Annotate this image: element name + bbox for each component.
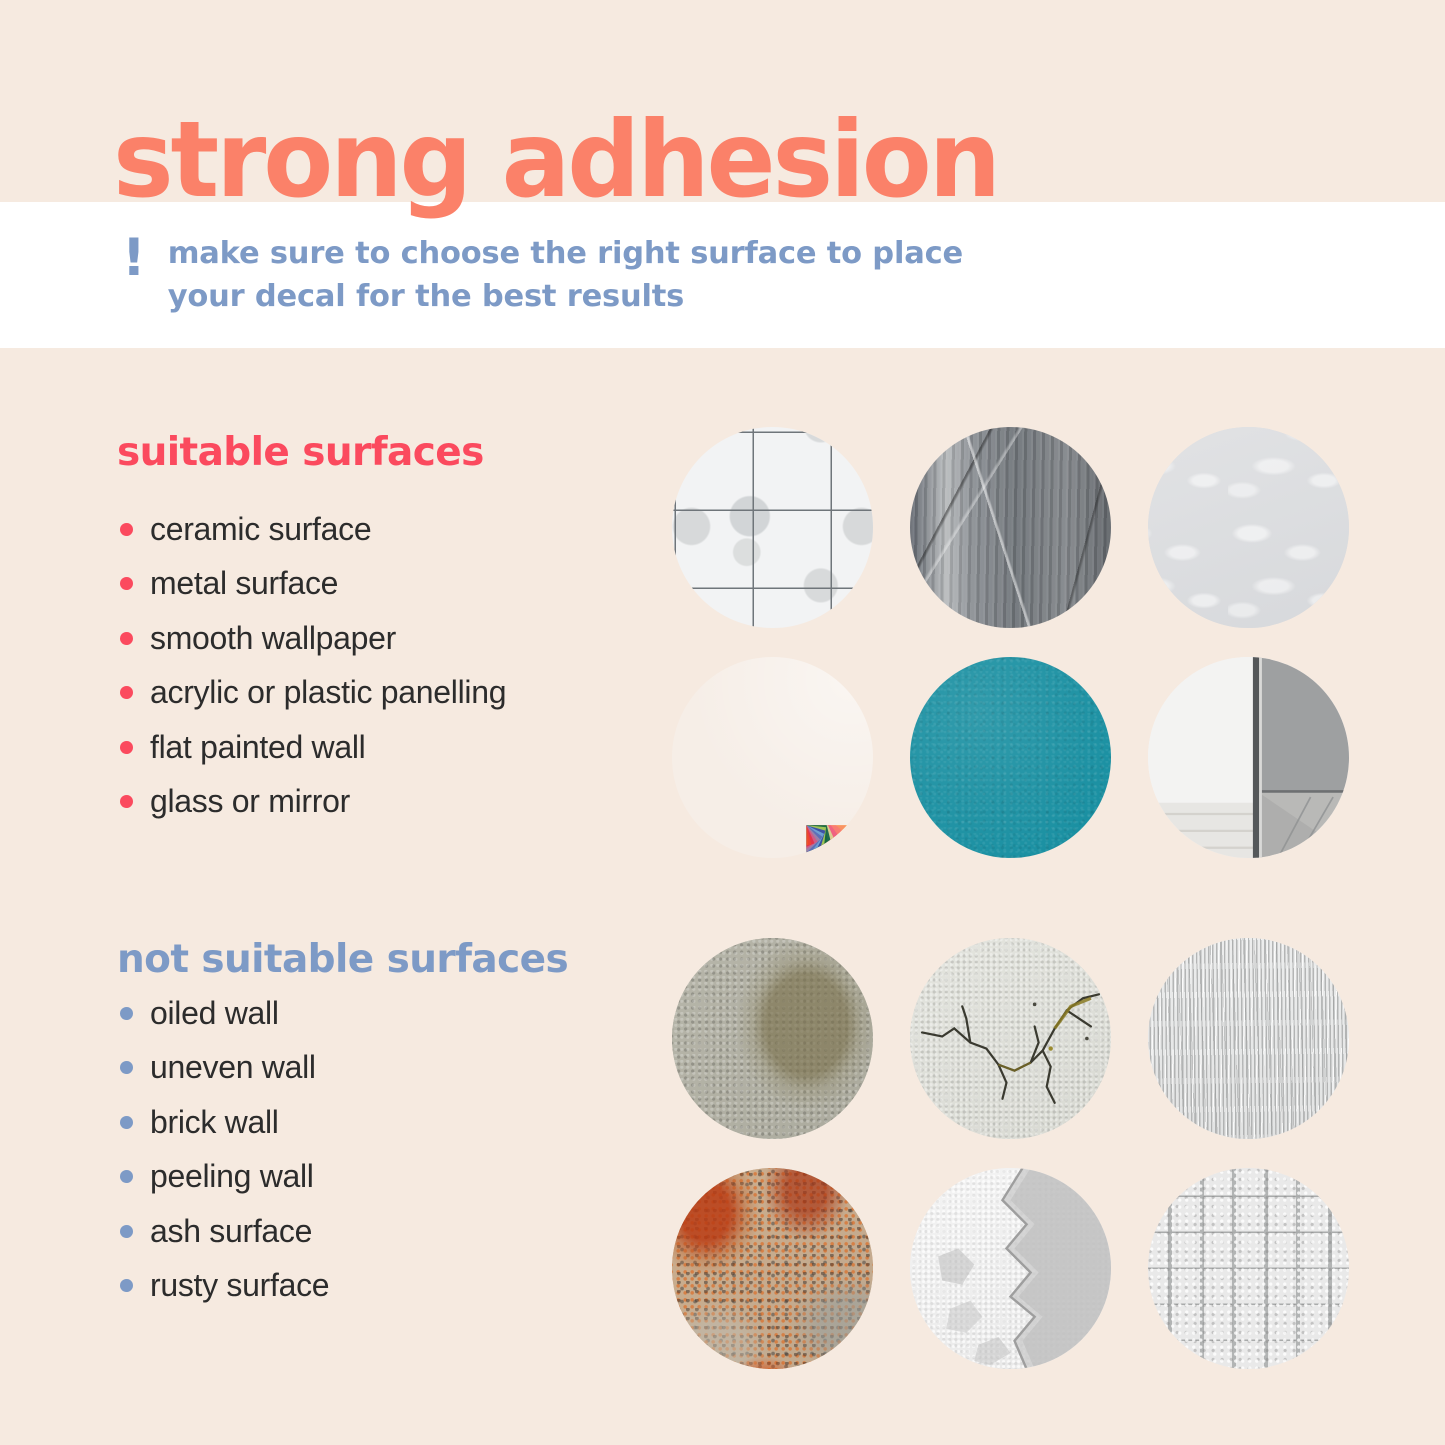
- list-item-label: peeling wall: [150, 1158, 314, 1195]
- bullet-dot-icon: [120, 577, 133, 590]
- list-item: glass or mirror: [120, 775, 506, 830]
- list-item: uneven wall: [120, 1041, 329, 1096]
- not-suitable-surfaces-image-grid: [672, 938, 1349, 1369]
- bullet-dot-icon: [120, 741, 133, 754]
- rusty-metal-swatch: [672, 1168, 873, 1369]
- list-item-label: oiled wall: [150, 995, 279, 1032]
- teal-paint-texture: [910, 657, 1111, 858]
- header-note-line-1: make sure to choose the right surface to…: [168, 232, 963, 275]
- oiled-wall-swatch: [672, 938, 873, 1139]
- teal-painted-wall-swatch: [910, 657, 1111, 858]
- list-item-label: rusty surface: [150, 1267, 329, 1304]
- list-item-label: ash surface: [150, 1213, 312, 1250]
- brushed-metal-swatch: [910, 427, 1111, 628]
- list-item: smooth wallpaper: [120, 611, 506, 666]
- header-note-text: make sure to choose the right surface to…: [168, 232, 963, 319]
- header-note: ! make sure to choose the right surface …: [122, 232, 963, 319]
- list-item-label: uneven wall: [150, 1049, 316, 1086]
- bullet-dot-icon: [120, 1225, 133, 1238]
- suitable-surfaces-list: ceramic surface metal surface smooth wal…: [120, 502, 506, 829]
- list-item: peeling wall: [120, 1150, 329, 1205]
- bullet-dot-icon: [120, 1061, 133, 1074]
- bullet-dot-icon: [120, 1279, 133, 1292]
- list-item-label: brick wall: [150, 1104, 279, 1141]
- bullet-dot-icon: [120, 1116, 133, 1129]
- metal-texture: [910, 427, 1111, 628]
- list-item: ash surface: [120, 1204, 329, 1259]
- infographic-canvas: strong adhesion ! make sure to choose th…: [0, 0, 1445, 1445]
- acrylic-panel-fan-swatch: [672, 657, 873, 858]
- crack-lines: [910, 938, 1111, 1139]
- not-suitable-surfaces-heading: not suitable surfaces: [117, 937, 568, 982]
- list-item-label: glass or mirror: [150, 783, 350, 820]
- exclamation-icon: !: [122, 234, 146, 284]
- wallpaper-texture: [1148, 427, 1349, 628]
- list-item: oiled wall: [120, 986, 329, 1041]
- list-item: rusty surface: [120, 1259, 329, 1314]
- bullet-dot-icon: [120, 686, 133, 699]
- peeling-paint-swatch: [910, 1168, 1111, 1369]
- mirror-swatch: [1148, 657, 1349, 858]
- suitable-surfaces-image-grid: [672, 427, 1349, 858]
- ceramic-tile-swatch: [672, 427, 873, 628]
- plaster-texture: [1148, 938, 1349, 1139]
- white-brick-wall-swatch: [1148, 1168, 1349, 1369]
- not-suitable-surfaces-list: oiled wall uneven wall brick wall peelin…: [120, 986, 329, 1313]
- list-item: metal surface: [120, 557, 506, 612]
- suitable-surfaces-heading: suitable surfaces: [117, 430, 484, 475]
- textured-plaster-swatch: [1148, 938, 1349, 1139]
- acrylic-texture: [672, 657, 873, 858]
- mirror-texture: [1148, 657, 1349, 858]
- list-item: ceramic surface: [120, 502, 506, 557]
- oiled-wall-texture: [672, 938, 873, 1139]
- list-item: acrylic or plastic panelling: [120, 666, 506, 721]
- bullet-dot-icon: [120, 1170, 133, 1183]
- smooth-wallpaper-swatch: [1148, 427, 1349, 628]
- list-item: brick wall: [120, 1095, 329, 1150]
- brick-texture: [1148, 1168, 1349, 1369]
- list-item-label: smooth wallpaper: [150, 620, 396, 657]
- page-title: strong adhesion: [113, 108, 998, 213]
- bullet-dot-icon: [120, 632, 133, 645]
- bullet-dot-icon: [120, 523, 133, 536]
- ceramic-texture: [672, 427, 873, 628]
- list-item-label: metal surface: [150, 565, 338, 602]
- brick-grain-layer: [1148, 1168, 1349, 1369]
- cracked-wall-swatch: [910, 938, 1111, 1139]
- rust-texture: [672, 1168, 873, 1369]
- peel-shapes: [910, 1168, 1111, 1369]
- bullet-dot-icon: [120, 1007, 133, 1020]
- list-item-label: acrylic or plastic panelling: [150, 674, 506, 711]
- list-item-label: flat painted wall: [150, 729, 365, 766]
- list-item-label: ceramic surface: [150, 511, 371, 548]
- list-item: flat painted wall: [120, 720, 506, 775]
- bullet-dot-icon: [120, 795, 133, 808]
- header-note-line-2: your decal for the best results: [168, 275, 963, 318]
